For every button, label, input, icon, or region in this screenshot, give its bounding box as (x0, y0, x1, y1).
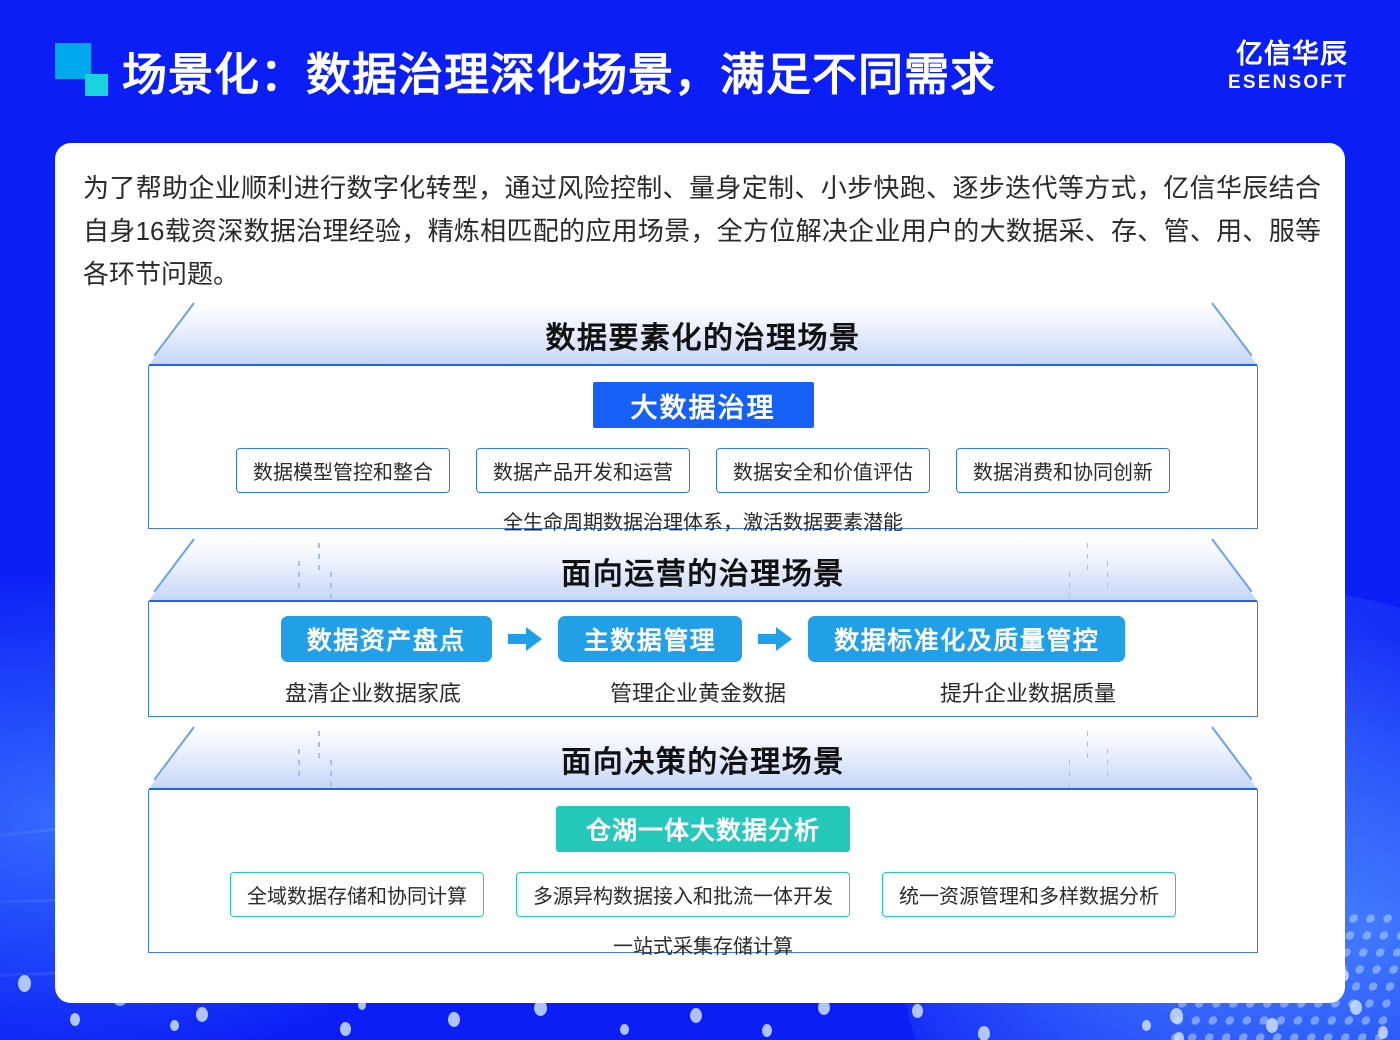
title-accent-squares-icon (55, 43, 108, 96)
section-caption: 全生命周期数据治理体系，激活数据要素潜能 (149, 506, 1257, 535)
content-card: 为了帮助企业顺利进行数字化转型，通过风险控制、量身定制、小步快跑、逐步迭代等方式… (55, 143, 1345, 1003)
accent-square-small (85, 74, 108, 96)
capability-tag[interactable]: 全域数据存储和协同计算 (230, 872, 484, 917)
brand-name-cn: 亿信华辰 (1228, 40, 1348, 70)
arrow-right-icon (756, 624, 794, 654)
background-dot (18, 975, 31, 992)
scenario-pill-big-data-governance[interactable]: 大数据治理 (593, 382, 814, 428)
arrow-right-icon (506, 624, 544, 654)
capability-tag[interactable]: 数据模型管控和整合 (236, 448, 450, 493)
scenario-pill-data-standardization-quality[interactable]: 数据标准化及质量管控 (808, 616, 1125, 662)
scenario-pill-data-asset-inventory[interactable]: 数据资产盘点 (281, 616, 492, 662)
background-dot (1378, 1026, 1388, 1039)
capability-tag[interactable]: 数据消费和协同创新 (956, 448, 1170, 493)
background-dot (1266, 1018, 1278, 1033)
background-dot (1170, 1008, 1183, 1024)
main-pill-row: 仓湖一体大数据分析 (149, 806, 1257, 852)
background-dot (70, 1013, 80, 1026)
scenario-pill-master-data-management[interactable]: 主数据管理 (558, 616, 743, 662)
capability-tag[interactable]: 数据安全和价值评估 (716, 448, 930, 493)
step-subtitle-row: 盘清企业数据家底 管理企业黄金数据 提升企业数据质量 (149, 676, 1257, 708)
background-dot (978, 1026, 990, 1040)
section-data-elementization: 数据要素化的治理场景 大数据治理 数据模型管控和整合 数据产品开发和运营 数据安… (148, 303, 1258, 529)
background-dot (912, 1004, 923, 1018)
background-dot (196, 1007, 208, 1022)
scenario-stack: 数据要素化的治理场景 大数据治理 数据模型管控和整合 数据产品开发和运营 数据安… (148, 303, 1258, 963)
slide-header: 场景化：数据治理深化场景，满足不同需求 亿信华辰 ESENSOFT (0, 0, 1400, 128)
main-pill-row: 大数据治理 (149, 382, 1257, 428)
capability-tag[interactable]: 数据产品开发和运营 (476, 448, 690, 493)
section-banner: 数据要素化的治理场景 (148, 303, 1258, 366)
page-title: 场景化：数据治理深化场景，满足不同需求 (122, 38, 996, 103)
brand-logo: 亿信华辰 ESENSOFT (1228, 40, 1348, 94)
intro-paragraph: 为了帮助企业顺利进行数字化转型，通过风险控制、量身定制、小步快跑、逐步迭代等方式… (83, 167, 1321, 296)
background-dot (762, 1024, 772, 1037)
section-banner-title: 面向运营的治理场景 (148, 539, 1258, 602)
background-dot (340, 1022, 351, 1036)
step-subtitle: 提升企业数据质量 (863, 676, 1193, 708)
capability-tag[interactable]: 多源异构数据接入和批流一体开发 (516, 872, 850, 917)
background-dot (1142, 1020, 1151, 1031)
step-pill-row: 数据资产盘点 主数据管理 数据标准化及质量管控 (149, 616, 1257, 662)
section-banner: 面向决策的治理场景 (148, 727, 1258, 790)
section-decision-oriented: 面向决策的治理场景 仓湖一体大数据分析 全域数据存储和协同计算 多源异构数据接入… (148, 727, 1258, 953)
section-body: 大数据治理 数据模型管控和整合 数据产品开发和运营 数据安全和价值评估 数据消费… (148, 366, 1258, 529)
section-banner-title: 数据要素化的治理场景 (148, 303, 1258, 366)
section-operations-oriented: 面向运营的治理场景 数据资产盘点 主数据管理 (148, 539, 1258, 717)
background-dot (1350, 1000, 1362, 1015)
section-body: 仓湖一体大数据分析 全域数据存储和协同计算 多源异构数据接入和批流一体开发 统一… (148, 790, 1258, 953)
brand-name-en: ESENSOFT (1228, 72, 1348, 95)
background-dot (690, 1008, 702, 1023)
capability-tag-row: 数据模型管控和整合 数据产品开发和运营 数据安全和价值评估 数据消费和协同创新 (149, 448, 1257, 493)
background-dot (448, 1012, 460, 1027)
scenario-pill-lakehouse-analytics[interactable]: 仓湖一体大数据分析 (556, 806, 850, 852)
background-dot (620, 1024, 629, 1035)
section-banner-title: 面向决策的治理场景 (148, 727, 1258, 790)
section-body: 数据资产盘点 主数据管理 数据标准化及质量管控 (148, 602, 1258, 717)
step-subtitle: 盘清企业数据家底 (213, 676, 533, 708)
capability-tag-row: 全域数据存储和协同计算 多源异构数据接入和批流一体开发 统一资源管理和多样数据分… (149, 872, 1257, 917)
slide-root: 场景化：数据治理深化场景，满足不同需求 亿信华辰 ESENSOFT 为了帮助企业… (0, 0, 1400, 1040)
background-dot (170, 1020, 179, 1031)
section-caption: 一站式采集存储计算 (149, 930, 1257, 959)
section-banner: 面向运营的治理场景 (148, 539, 1258, 602)
capability-tag[interactable]: 统一资源管理和多样数据分析 (882, 872, 1176, 917)
background-dot (1174, 1032, 1184, 1040)
step-subtitle: 管理企业黄金数据 (533, 676, 863, 708)
